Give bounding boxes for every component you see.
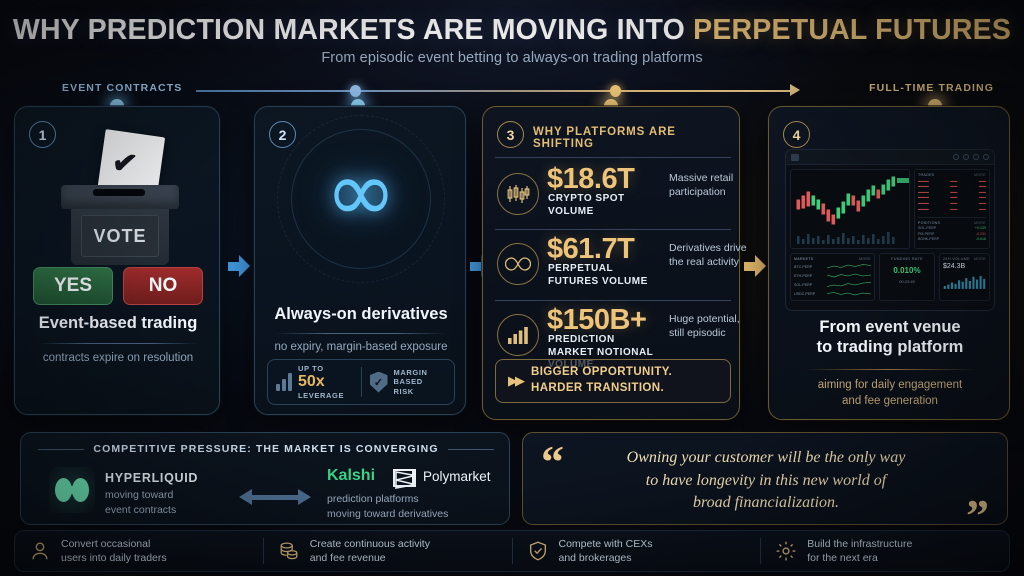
volume-panel: 24H VOLUME MORE $24.3B (939, 253, 990, 301)
trades-more: MORE (974, 173, 986, 177)
connector-arrow-3-icon (744, 255, 766, 277)
market-name-1: BTC-PERP (794, 265, 812, 269)
card2-heading: Always-on derivatives (255, 305, 467, 324)
stat-value-1: $18.6T (547, 163, 634, 196)
bidirectional-arrow-icon (239, 489, 311, 505)
timeline-dot-2 (610, 85, 621, 97)
stat-value-2: $61.7T (547, 233, 634, 266)
stat-label-1: CRYPTO SPOT VOLUME (548, 193, 663, 218)
infographic-root: WHY PREDICTION MARKETS ARE MOVING INTO P… (0, 0, 1024, 576)
user-icon[interactable] (983, 154, 989, 160)
footer-item-compete-cex: Compete with CEXs and brokerages (513, 537, 761, 566)
title-main: WHY PREDICTION MARKETS ARE MOVING INTO (13, 14, 693, 46)
stat-crypto-spot-volume: $18.6T CRYPTO SPOT VOLUME Massive retail… (495, 165, 731, 237)
footer-2-line-1: Create continuous activity (310, 538, 430, 550)
gear-icon[interactable] (963, 154, 969, 160)
polymarket-name: Polymarket (423, 469, 491, 484)
quote-text: Owning your customer will be the only wa… (575, 447, 957, 515)
footer-3-line-2: and brokerages (559, 552, 632, 564)
shield-check-icon (527, 540, 549, 562)
card4-subtext-line-2: and fee generation (842, 395, 938, 407)
card4-divider (805, 369, 975, 370)
funding-rate-panel: FUNDING RATE 0.010% 00:23:45 (879, 253, 935, 301)
card2-badges: UP TO 50x LEVERAGE MARGIN BASED RISK (267, 359, 455, 405)
bell-icon[interactable] (973, 154, 979, 160)
stat-note-2: Derivatives drive the real activity (669, 241, 747, 269)
markets-more: MORE (859, 257, 871, 261)
timeline-left-label: EVENT CONTRACTS (62, 82, 182, 94)
margin-line-3: RISK (394, 387, 428, 396)
card-why-platforms-shifting[interactable]: 3 WHY PLATFORMS ARE SHIFTING $18.6T CRYP… (482, 106, 740, 420)
stat-value-3: $150B+ (547, 304, 646, 337)
right-sub-2: moving toward derivatives (327, 508, 448, 520)
card4-heading: From event venue to trading platform (769, 317, 1011, 357)
card2-subtext: no expiry, margin-based exposure (255, 341, 467, 353)
trades-header: TRADES (918, 173, 934, 177)
callout-line-1: BIGGER OPPORTUNITY. (531, 365, 672, 381)
double-arrow-icon: ▶▶ (508, 373, 522, 389)
user-icon (29, 540, 51, 562)
ballot-slot (93, 189, 145, 196)
position-value-1: +0.039 (975, 226, 986, 230)
hyperliquid-subtext: moving toward event contracts (105, 488, 176, 518)
hyperliquid-logo-icon (49, 467, 95, 513)
shield-check-icon (370, 372, 388, 393)
card3-divider-0 (495, 157, 731, 158)
card4-heading-line-2: to trading platform (817, 338, 964, 356)
card-trading-platform[interactable]: 4 (768, 106, 1010, 420)
coins-icon (278, 540, 300, 562)
position-name-3: BONK-PERP (918, 237, 939, 241)
sparkline-2 (827, 272, 871, 279)
position-value-2: -0.231 (976, 232, 986, 236)
card4-subtext-line-1: aiming for daily engagement (818, 379, 962, 391)
sparkline-1 (827, 263, 871, 270)
infinity-icon (497, 243, 539, 285)
footer-1-line-2: users into daily traders (61, 552, 167, 564)
card3-divider-2 (495, 300, 731, 301)
market-name-2: ETH-PERP (794, 274, 812, 278)
sparkline-4 (827, 290, 871, 297)
leverage-badge: UP TO 50x LEVERAGE (268, 364, 361, 401)
position-value-3: -0.618 (976, 237, 986, 241)
infinity-illustration: ∞ (255, 123, 467, 273)
bar-chart-icon (276, 373, 292, 391)
volume-more: MORE (974, 257, 986, 261)
card4-number-badge: 4 (783, 121, 810, 148)
card2-divider (275, 333, 447, 334)
hyperliquid-name: HYPERLIQUID (105, 471, 198, 485)
dashboard-tool-icons (953, 154, 989, 160)
competitive-pressure-panel: COMPETITIVE PRESSURE: THE MARKET IS CONV… (20, 432, 510, 525)
footer-item-convert-users: Convert occasional users into daily trad… (15, 537, 263, 566)
card-event-contracts[interactable]: 1 VOTE YES NO Event-based trading contra… (14, 106, 220, 415)
sparkline-3 (827, 281, 871, 288)
quote-line-1: Owning your customer will be the only wa… (627, 449, 906, 466)
right-sub-1: prediction platforms (327, 493, 419, 505)
funding-rate-timer: 00:23:45 (883, 279, 931, 284)
dashboard-toolbar (786, 150, 994, 165)
ballot-label: VOTE (81, 215, 159, 257)
yes-button[interactable]: YES (33, 267, 113, 305)
footer-text-2: Create continuous activity and fee reven… (310, 537, 430, 566)
polymarket-logo-icon (393, 469, 414, 487)
page-title: WHY PREDICTION MARKETS ARE MOVING INTO P… (0, 14, 1024, 47)
card1-divider (38, 343, 198, 344)
stat-note-3: Huge potential, still episodic (669, 312, 747, 340)
card4-subtext: aiming for daily engagement and fee gene… (769, 377, 1011, 409)
ballot-box-illustration: VOTE (15, 131, 221, 261)
leverage-top-label: UP TO (298, 364, 344, 373)
competitive-heading: COMPETITIVE PRESSURE: THE MARKET IS CONV… (93, 443, 438, 455)
title-accent: PERPETUAL FUTURES (693, 14, 1011, 46)
timeline: EVENT CONTRACTS FULL-TIME TRADING (0, 80, 1024, 100)
infinity-icon: ∞ (255, 149, 467, 235)
trades-panel: TRADES MORE ▬▬▬▬▬▬▬ ▬▬▬▬▬▬▬ ▬▬▬▬▬▬▬ ▬▬▬▬… (914, 169, 990, 249)
positions-header: POSITIONS (918, 221, 940, 225)
menu-icon[interactable] (791, 154, 799, 161)
timeline-arrow-icon (790, 84, 800, 96)
candlestick-icon (497, 173, 539, 215)
footer-4-line-1: Build the infrastructure (807, 538, 912, 550)
hyperliquid-sub-1: moving toward (105, 489, 173, 501)
bar-chart-icon (497, 314, 539, 356)
position-name-1: SOL-PERP (918, 226, 936, 230)
card-always-on-derivatives[interactable]: 2 ∞ Always-on derivatives no expiry, mar… (254, 106, 466, 415)
dashboard-top-row: TRADES MORE ▬▬▬▬▬▬▬ ▬▬▬▬▬▬▬ ▬▬▬▬▬▬▬ ▬▬▬▬… (786, 165, 994, 253)
margin-risk-badge: MARGIN BASED RISK (362, 368, 455, 396)
quote-line-2: to have longevity in this new world of (646, 472, 886, 489)
margin-line-1: MARGIN (394, 368, 428, 377)
quote-panel: “ Owning your customer will be the only … (522, 432, 1008, 525)
card1-subtext: contracts expire on resolution (15, 352, 221, 364)
dashboard-bottom-row: MARKETS MORE BTC-PERP ETH-PERP SOL-PERP … (786, 253, 994, 305)
timeline-dot-1 (350, 85, 361, 97)
footer-4-line-2: for the next era (807, 552, 878, 564)
gear-icon (775, 540, 797, 562)
quote-line-3: broad financialization. (693, 494, 839, 511)
leverage-value: 50x (298, 373, 344, 391)
stat-note-1: Massive retail participation (669, 171, 747, 199)
callout-line-2: HARDER TRANSITION. (531, 381, 672, 397)
layout-icon[interactable] (953, 154, 959, 160)
card4-heading-line-1: From event venue (819, 318, 960, 336)
trading-dashboard-mock[interactable]: TRADES MORE ▬▬▬▬▬▬▬ ▬▬▬▬▬▬▬ ▬▬▬▬▬▬▬ ▬▬▬▬… (785, 149, 995, 311)
no-button[interactable]: NO (123, 267, 203, 305)
stat-perpetual-futures-volume: $61.7T PERPETUAL FUTURES VOLUME Derivati… (495, 235, 731, 307)
hyperliquid-sub-2: event contracts (105, 504, 176, 516)
card3-callout: ▶▶ BIGGER OPPORTUNITY. HARDER TRANSITION… (495, 359, 731, 403)
funding-rate-header: FUNDING RATE (883, 257, 931, 261)
heading-rule-right (448, 449, 494, 450)
volume-header: 24H VOLUME (943, 257, 970, 261)
candlestick-chart (790, 169, 910, 249)
footer-item-build-infrastructure: Build the infrastructure for the next er… (761, 537, 1009, 566)
footer-text-4: Build the infrastructure for the next er… (807, 537, 912, 566)
market-name-4: USDC-PERP (794, 292, 815, 296)
page-subtitle: From episodic event betting to always-on… (0, 50, 1024, 66)
yes-no-buttons: YES NO (33, 267, 203, 305)
margin-line-2: BASED (394, 377, 428, 386)
leverage-bottom-label: LEVERAGE (298, 391, 344, 400)
footer-1-line-1: Convert occasional (61, 538, 150, 550)
right-subtext: prediction platforms moving toward deriv… (327, 492, 448, 522)
card3-title: WHY PLATFORMS ARE SHIFTING (533, 126, 739, 150)
heading-rule-left (38, 449, 84, 450)
footer-text-3: Compete with CEXs and brokerages (559, 537, 653, 566)
footer-2-line-2: and fee revenue (310, 552, 386, 564)
competitive-heading-wrap: COMPETITIVE PRESSURE: THE MARKET IS CONV… (21, 443, 511, 455)
card3-divider-1 (495, 229, 731, 230)
footer-text-1: Convert occasional users into daily trad… (61, 537, 167, 566)
price-chart-svg (791, 170, 910, 249)
positions-more: MORE (974, 221, 986, 225)
kalshi-logo: Kalshi (327, 467, 375, 485)
card1-heading: Event-based trading (15, 314, 221, 333)
card3-number-badge: 3 (497, 121, 524, 148)
quote-open-mark: “ (541, 435, 564, 488)
markets-header: MARKETS (794, 257, 813, 261)
funding-rate-value: 0.010% (883, 266, 931, 275)
position-name-2: PM-PERP (918, 232, 934, 236)
footer-item-continuous-activity: Create continuous activity and fee reven… (264, 537, 512, 566)
stat-label-2: PERPETUAL FUTURES VOLUME (548, 263, 663, 288)
timeline-right-label: FULL-TIME TRADING (869, 82, 994, 94)
markets-panel: MARKETS MORE BTC-PERP ETH-PERP SOL-PERP … (790, 253, 875, 301)
volume-bar-chart (943, 270, 986, 292)
footer-3-line-1: Compete with CEXs (559, 538, 653, 550)
timeline-line (196, 90, 792, 92)
market-name-3: SOL-PERP (794, 283, 812, 287)
volume-value: $24.3B (943, 263, 986, 270)
connector-arrow-1-icon (228, 255, 250, 277)
footer-bar: Convert occasional users into daily trad… (14, 530, 1010, 572)
